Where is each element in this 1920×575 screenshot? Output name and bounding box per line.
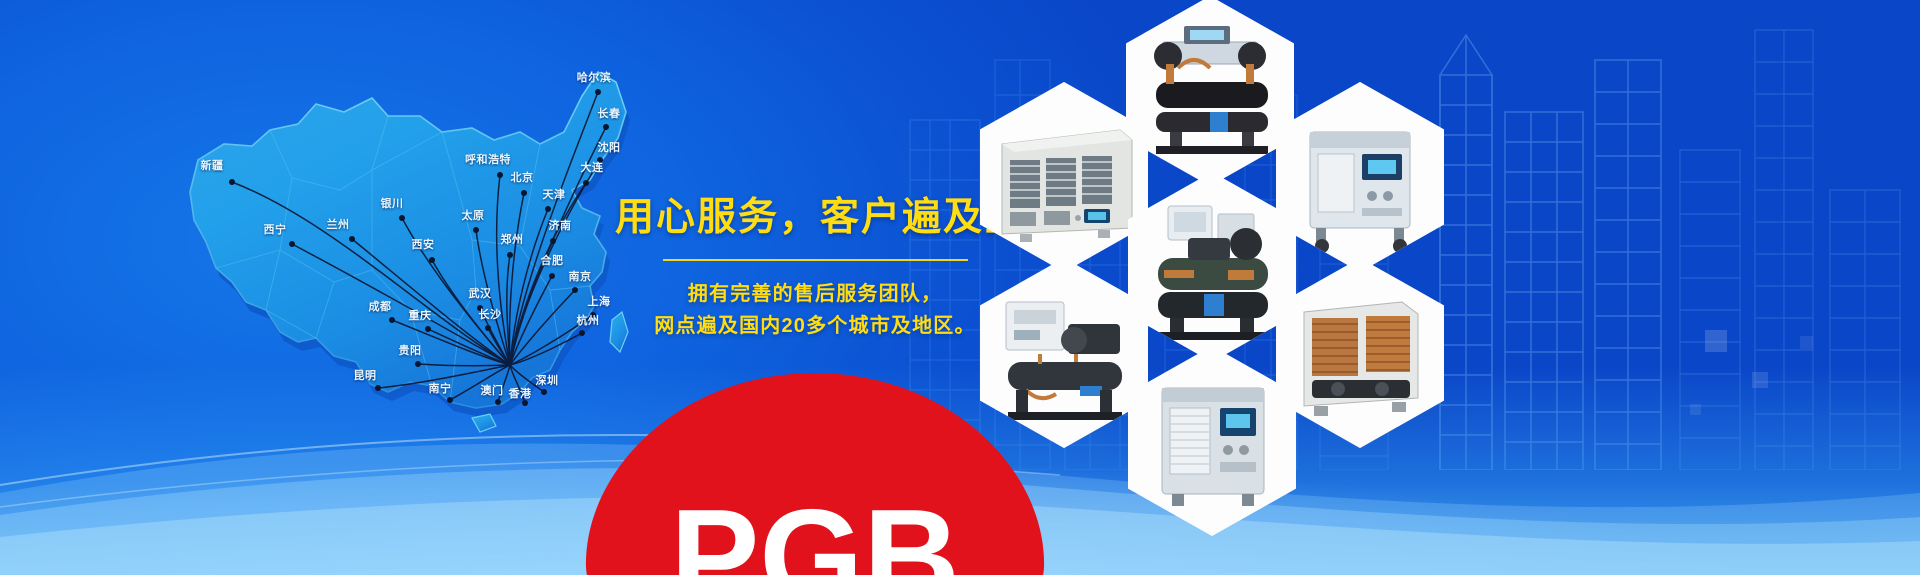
city-dot xyxy=(507,252,513,258)
city-dot xyxy=(595,89,601,95)
city-dot xyxy=(579,330,585,336)
city-label: 济南 xyxy=(549,217,572,233)
promo-banner: PGB 新疆呼和浩特哈尔滨长春沈阳大连北京天津银川太原兰州西宁济南郑州西安合肥南… xyxy=(0,0,1920,575)
city-label: 武汉 xyxy=(469,285,492,301)
city-label: 澳门 xyxy=(481,382,504,398)
city-dot xyxy=(229,179,235,185)
decor-square-4 xyxy=(1690,404,1701,415)
banner-subtitle-line1: 拥有完善的售后服务团队， xyxy=(615,278,1015,310)
product-hex-open-screw-compressor-unit[interactable] xyxy=(980,258,1148,448)
city-dot xyxy=(521,190,527,196)
portable-air-cooled-chiller-image xyxy=(1276,82,1444,272)
industrial-air-cooled-chiller-image xyxy=(1276,258,1444,448)
city-dot xyxy=(495,399,501,405)
product-hex-portable-air-cooled-chiller[interactable] xyxy=(1276,82,1444,272)
city-dot xyxy=(572,287,578,293)
city-label: 大连 xyxy=(581,159,604,175)
city-label: 新疆 xyxy=(201,157,224,173)
decor-square-2 xyxy=(1752,372,1768,388)
city-dot xyxy=(477,305,483,311)
city-label: 上海 xyxy=(588,293,611,309)
condensing-unit-image xyxy=(1128,172,1296,362)
city-dot xyxy=(473,227,479,233)
product-hex-grid xyxy=(980,0,1600,575)
city-label: 长沙 xyxy=(479,306,502,322)
headquarters-marker: PGB xyxy=(495,354,525,376)
city-label: 太原 xyxy=(462,207,485,223)
city-label: 重庆 xyxy=(409,307,432,323)
city-dot xyxy=(415,361,421,367)
city-label: 合肥 xyxy=(541,252,564,268)
city-label: 成都 xyxy=(369,298,392,314)
city-label: 西安 xyxy=(412,236,435,252)
city-dot xyxy=(399,215,405,221)
decor-square-3 xyxy=(1800,336,1813,349)
city-dot xyxy=(429,257,435,263)
product-hex-water-cooled-screw-chiller[interactable] xyxy=(1126,0,1294,186)
city-dot xyxy=(545,206,551,212)
city-dot xyxy=(425,326,431,332)
product-hex-industrial-air-cooled-chiller[interactable] xyxy=(1276,258,1444,448)
bottom-glow xyxy=(0,365,1920,575)
air-cooled-box-chiller-image xyxy=(980,82,1148,272)
city-label: 沈阳 xyxy=(598,139,621,155)
banner-headline: 用心服务，客户遍及全国 xyxy=(615,196,1015,241)
svg-text:PGB: PGB xyxy=(670,482,960,575)
city-label: 南京 xyxy=(569,268,592,284)
product-hex-air-cooled-box-chiller[interactable] xyxy=(980,82,1148,272)
city-label: 北京 xyxy=(511,169,534,185)
city-label: 香港 xyxy=(509,385,532,401)
city-dot xyxy=(375,385,381,391)
city-dot xyxy=(497,172,503,178)
city-dot xyxy=(289,241,295,247)
cabinet-water-chiller-image xyxy=(1128,346,1296,536)
city-dot xyxy=(349,236,355,242)
product-hex-condensing-unit[interactable] xyxy=(1128,172,1296,362)
city-label: 深圳 xyxy=(536,372,559,388)
city-label: 西宁 xyxy=(264,221,287,237)
city-dot xyxy=(590,312,596,318)
city-dot xyxy=(550,238,556,244)
city-dot xyxy=(389,317,395,323)
headline-divider xyxy=(663,259,968,261)
city-dot xyxy=(485,325,491,331)
banner-subtitle-line2: 网点遍及国内20多个城市及地区。 xyxy=(615,310,1015,342)
city-dot xyxy=(583,180,589,186)
city-dot xyxy=(447,397,453,403)
city-label: 长春 xyxy=(598,105,621,121)
open-screw-compressor-unit-image xyxy=(980,258,1148,448)
city-dot xyxy=(549,273,555,279)
city-label: 杭州 xyxy=(577,312,600,328)
city-label: 呼和浩特 xyxy=(465,151,511,167)
city-label: 银川 xyxy=(381,195,404,211)
decor-square-1 xyxy=(1705,330,1727,352)
city-label: 兰州 xyxy=(327,216,350,232)
city-label: 南宁 xyxy=(429,380,452,396)
city-dot xyxy=(541,389,547,395)
banner-copy: 用心服务，客户遍及全国 拥有完善的售后服务团队， 网点遍及国内20多个城市及地区… xyxy=(615,196,1015,343)
water-cooled-screw-chiller-image xyxy=(1126,0,1294,186)
city-label: 天津 xyxy=(543,186,566,202)
wave-decoration xyxy=(0,375,1920,575)
city-label: 郑州 xyxy=(501,231,524,247)
city-dot xyxy=(603,124,609,130)
city-dot xyxy=(597,157,603,163)
city-dot xyxy=(522,400,528,406)
city-label: 哈尔滨 xyxy=(577,69,612,85)
city-label: 贵阳 xyxy=(399,342,422,358)
product-hex-cabinet-water-chiller[interactable] xyxy=(1128,346,1296,536)
city-label: 昆明 xyxy=(354,367,377,383)
